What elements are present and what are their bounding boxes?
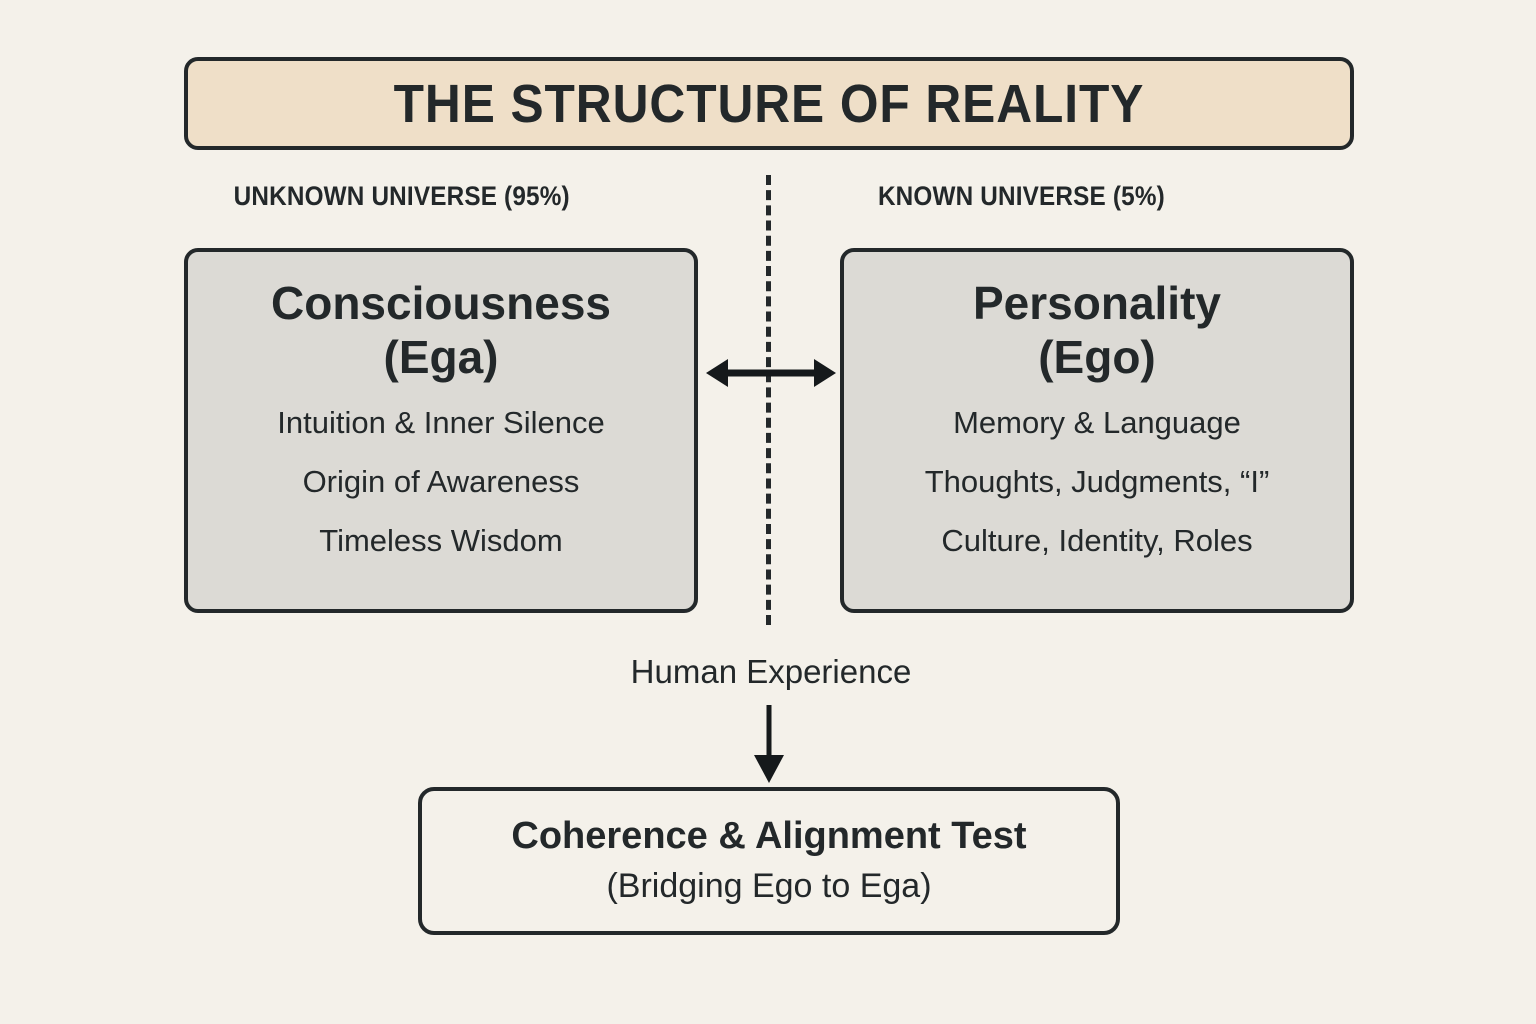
concept-box-left-title: Consciousness (Ega)	[271, 276, 611, 385]
list-item: Timeless Wisdom	[277, 525, 604, 556]
diagram-canvas: The Structure of Reality UNKNOWN UNIVERS…	[0, 0, 1536, 1024]
outcome-subtitle: (Bridging Ego to Ega)	[606, 868, 931, 905]
list-item: Intuition & Inner Silence	[277, 407, 604, 438]
vertical-dashed-divider	[766, 175, 771, 625]
concept-box-right-list: Memory & Language Thoughts, Judgments, “…	[925, 407, 1270, 556]
double-arrow-horizontal-icon	[706, 352, 836, 394]
list-item: Thoughts, Judgments, “I”	[925, 466, 1270, 497]
outcome-box-coherence-alignment-test: Coherence & Alignment Test (Bridging Ego…	[418, 787, 1120, 935]
list-item: Origin of Awareness	[277, 466, 604, 497]
human-experience-text: Human Experience	[631, 653, 912, 690]
column-header-unknown-universe: UNKNOWN UNIVERSE (95%)	[234, 183, 570, 210]
list-item: Culture, Identity, Roles	[925, 525, 1270, 556]
title-banner: The Structure of Reality	[184, 57, 1354, 150]
outcome-title: Coherence & Alignment Test	[511, 816, 1026, 858]
column-header-known-universe: KNOWN UNIVERSE (5%)	[878, 183, 1165, 210]
arrow-down-icon	[748, 705, 790, 783]
list-item: Memory & Language	[925, 407, 1270, 438]
concept-box-right-title: Personality (Ego)	[973, 276, 1221, 385]
concept-box-left-list: Intuition & Inner Silence Origin of Awar…	[277, 407, 604, 556]
page-title: The Structure of Reality	[394, 77, 1145, 131]
human-experience-label: Human Experience	[0, 655, 1536, 688]
concept-box-personality: Personality (Ego) Memory & Language Thou…	[840, 248, 1354, 613]
concept-box-consciousness: Consciousness (Ega) Intuition & Inner Si…	[184, 248, 698, 613]
